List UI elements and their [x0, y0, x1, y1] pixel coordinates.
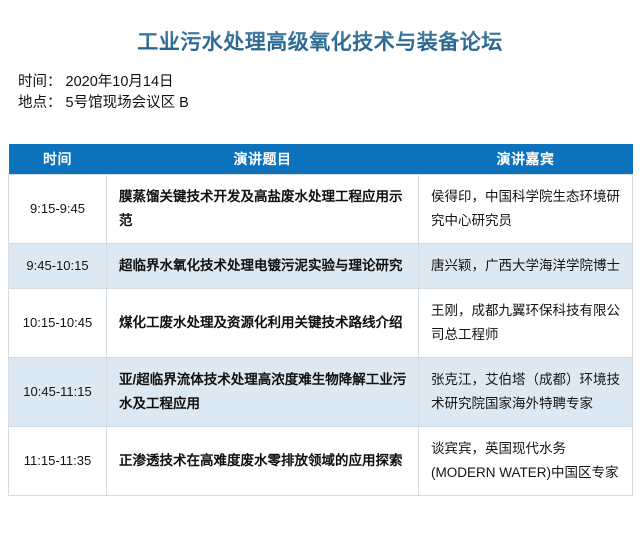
event-meta: 时间：2020年10月14日 地点：5号馆现场会议区 B	[0, 72, 640, 114]
agenda-table-body: 9:15-9:45膜蒸馏关键技术开发及高盐废水处理工程应用示范侯得印，中国科学院…	[9, 175, 633, 496]
cell-topic: 亚/超临界流体技术处理高浓度难生物降解工业污水及工程应用	[107, 358, 419, 427]
event-time-value: 2020年10月14日	[62, 72, 174, 93]
cell-time: 9:15-9:45	[9, 175, 107, 244]
cell-guest: 谈宾宾，英国现代水务(MODERN WATER)中国区专家	[419, 427, 633, 496]
cell-guest: 张克江，艾伯塔（成都）环境技术研究院国家海外特聘专家	[419, 358, 633, 427]
table-row: 9:45-10:15超临界水氧化技术处理电镀污泥实验与理论研究唐兴颖，广西大学海…	[9, 244, 633, 289]
cell-guest: 侯得印，中国科学院生态环境研究中心研究员	[419, 175, 633, 244]
agenda-table: 时间 演讲题目 演讲嘉宾 9:15-9:45膜蒸馏关键技术开发及高盐废水处理工程…	[8, 144, 633, 496]
event-time-label: 时间：	[18, 72, 62, 93]
page-title: 工业污水处理高级氧化技术与装备论坛	[137, 26, 503, 56]
event-venue-value: 5号馆现场会议区 B	[62, 93, 189, 114]
cell-topic: 正渗透技术在高难度废水零排放领域的应用探索	[107, 427, 419, 496]
cell-time: 10:45-11:15	[9, 358, 107, 427]
cell-topic: 煤化工废水处理及资源化利用关键技术路线介绍	[107, 289, 419, 358]
column-header-time: 时间	[9, 144, 107, 175]
column-header-guest: 演讲嘉宾	[419, 144, 633, 175]
cell-topic: 膜蒸馏关键技术开发及高盐废水处理工程应用示范	[107, 175, 419, 244]
cell-guest: 王刚，成都九翼环保科技有限公司总工程师	[419, 289, 633, 358]
event-venue-label: 地点：	[18, 93, 62, 114]
column-header-topic: 演讲题目	[107, 144, 419, 175]
table-row: 9:15-9:45膜蒸馏关键技术开发及高盐废水处理工程应用示范侯得印，中国科学院…	[9, 175, 633, 244]
cell-guest: 唐兴颖，广西大学海洋学院博士	[419, 244, 633, 289]
table-header-row: 时间 演讲题目 演讲嘉宾	[9, 144, 633, 175]
event-venue-line: 地点：5号馆现场会议区 B	[18, 93, 640, 114]
cell-time: 11:15-11:35	[9, 427, 107, 496]
agenda-table-head: 时间 演讲题目 演讲嘉宾	[9, 144, 633, 175]
table-row: 11:15-11:35正渗透技术在高难度废水零排放领域的应用探索谈宾宾，英国现代…	[9, 427, 633, 496]
table-row: 10:15-10:45煤化工废水处理及资源化利用关键技术路线介绍王刚，成都九翼环…	[9, 289, 633, 358]
cell-time: 9:45-10:15	[9, 244, 107, 289]
table-row: 10:45-11:15亚/超临界流体技术处理高浓度难生物降解工业污水及工程应用张…	[9, 358, 633, 427]
cell-time: 10:15-10:45	[9, 289, 107, 358]
page-title-container: 工业污水处理高级氧化技术与装备论坛	[0, 0, 640, 56]
forum-agenda-page: 工业污水处理高级氧化技术与装备论坛 时间：2020年10月14日 地点：5号馆现…	[0, 0, 640, 550]
event-time-line: 时间：2020年10月14日	[18, 72, 640, 93]
cell-topic: 超临界水氧化技术处理电镀污泥实验与理论研究	[107, 244, 419, 289]
